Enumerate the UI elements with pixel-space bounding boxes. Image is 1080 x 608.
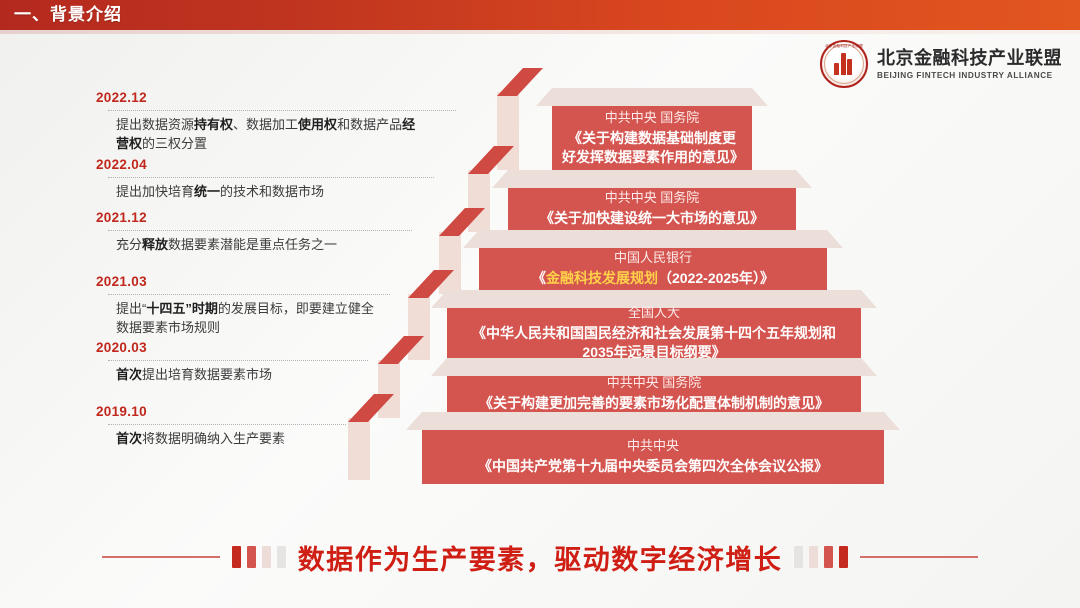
banner-marks-left xyxy=(232,546,286,568)
policy-step-issuer: 中共中央 国务院 xyxy=(605,109,700,127)
policy-step: 中共中央《中国共产党第十九届中央委员会第四次全体会议公报》 xyxy=(422,412,884,484)
policy-step-issuer: 中共中央 xyxy=(627,437,679,455)
policy-step-body: 中共中央《中国共产党第十九届中央委员会第四次全体会议公报》 xyxy=(422,430,884,484)
policy-step-issuer: 中共中央 国务院 xyxy=(605,189,700,207)
policy-step: 全国人大《中华人民共和国国民经济和社会发展第十四个五年规划和2035年远景目标纲… xyxy=(447,290,861,358)
policy-step-tread xyxy=(536,88,768,106)
policy-step-body: 全国人大《中华人民共和国国民经济和社会发展第十四个五年规划和2035年远景目标纲… xyxy=(447,308,861,358)
policy-step-document: 《中华人民共和国国民经济和社会发展第十四个五年规划和2035年远景目标纲要》 xyxy=(457,324,851,363)
banner-line-right xyxy=(860,556,978,559)
policy-step-issuer: 中共中央 国务院 xyxy=(607,374,702,392)
policy-steps-pyramid: 中共中央 国务院《关于构建数据基础制度更好发挥数据要素作用的意见》中共中央 国务… xyxy=(0,0,1080,520)
policy-step-tread xyxy=(406,412,900,430)
policy-step: 中国人民银行《金融科技发展规划（2022-2025年）》 xyxy=(479,230,827,290)
policy-step-tread xyxy=(463,230,843,248)
summary-banner: 数据作为生产要素，驱动数字经济增长 xyxy=(0,534,1080,580)
policy-step-body: 中国人民银行《金融科技发展规划（2022-2025年）》 xyxy=(479,248,827,290)
policy-step: 中共中央 国务院《关于加快建设统一大市场的意见》 xyxy=(508,170,796,230)
policy-step-issuer: 全国人大 xyxy=(628,304,680,322)
policy-step-document: 《中国共产党第十九届中央委员会第四次全体会议公报》 xyxy=(478,457,828,476)
policy-step-body: 中共中央 国务院《关于构建更加完善的要素市场化配置体制机制的意见》 xyxy=(447,376,861,412)
banner-text: 数据作为生产要素，驱动数字经济增长 xyxy=(298,538,783,577)
policy-step-body: 中共中央 国务院《关于构建数据基础制度更好发挥数据要素作用的意见》 xyxy=(552,106,752,170)
policy-step-issuer: 中国人民银行 xyxy=(614,249,692,267)
policy-step: 中共中央 国务院《关于构建数据基础制度更好发挥数据要素作用的意见》 xyxy=(552,88,752,170)
policy-step-document: 《金融科技发展规划（2022-2025年）》 xyxy=(532,269,774,288)
policy-step-body: 中共中央 国务院《关于加快建设统一大市场的意见》 xyxy=(508,188,796,230)
policy-step-document: 《关于加快建设统一大市场的意见》 xyxy=(540,209,764,228)
banner-marks-right xyxy=(794,546,848,568)
policy-step-document: 《关于构建数据基础制度更好发挥数据要素作用的意见》 xyxy=(562,129,742,168)
policy-step-tread xyxy=(492,170,812,188)
policy-step-document: 《关于构建更加完善的要素市场化配置体制机制的意见》 xyxy=(479,394,829,413)
policy-step: 中共中央 国务院《关于构建更加完善的要素市场化配置体制机制的意见》 xyxy=(447,358,861,412)
banner-line-left xyxy=(102,556,220,559)
